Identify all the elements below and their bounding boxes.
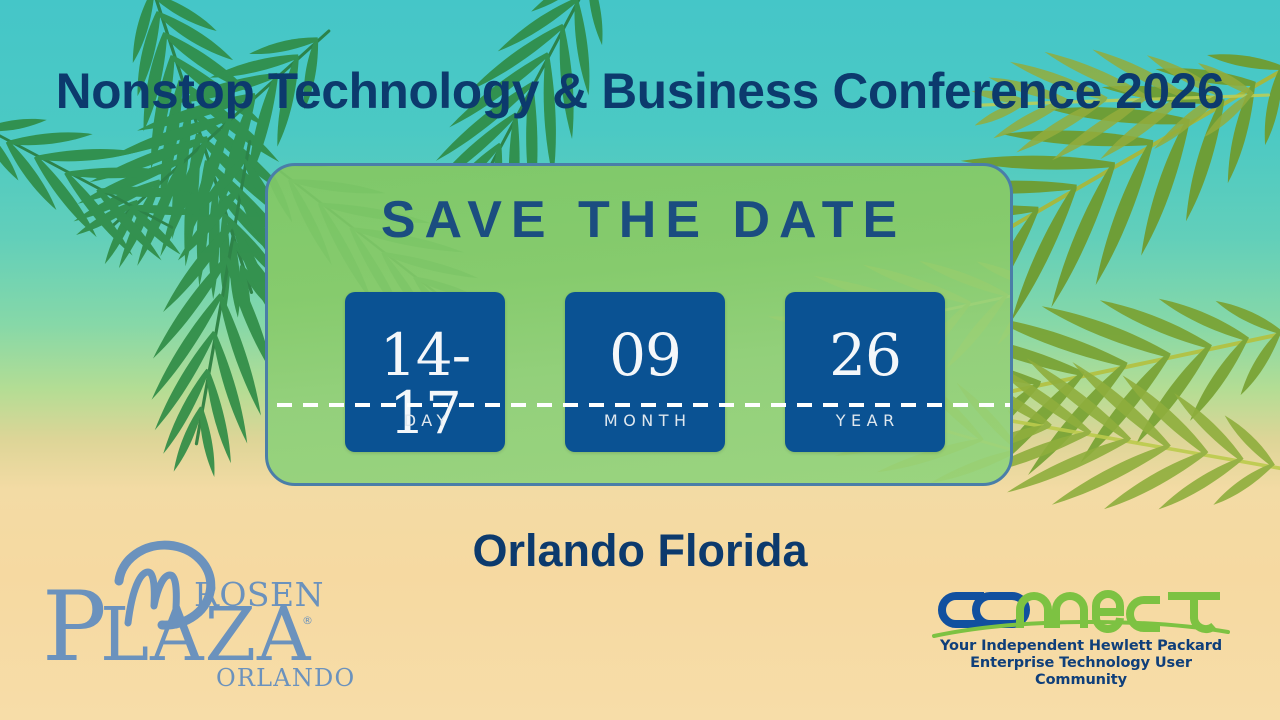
date-value-year: 26 [785, 326, 945, 384]
date-label-year: YEAR [785, 411, 945, 430]
date-value-month: 09 [565, 326, 725, 384]
date-box-day: 14-17 DAY [345, 292, 505, 452]
save-the-date-heading: SAVE THE DATE [268, 190, 1010, 250]
date-boxes: 14-17 DAY 09 MONTH 26 YEAR [345, 292, 945, 452]
date-label-month: MONTH [565, 411, 725, 430]
connect-tagline: Your Independent Hewlett Packard Enterpr… [928, 638, 1234, 689]
connect-logo: Your Independent Hewlett Packard Enterpr… [928, 582, 1234, 682]
save-the-date-poster: Nonstop Technology & Business Conference… [0, 0, 1280, 720]
date-label-day: DAY [345, 411, 505, 430]
rosen-plaza-logo-svg: ROSEN P LAZA ® ORLANDO [36, 528, 366, 693]
connect-logo-svg [928, 582, 1234, 638]
rosen-plaza-logo: ROSEN P LAZA ® ORLANDO [36, 528, 366, 693]
orlando-wordmark: ORLANDO [216, 664, 355, 692]
date-box-year: 26 YEAR [785, 292, 945, 452]
dashed-divider [277, 403, 1010, 407]
page-title: Nonstop Technology & Business Conference… [6, 62, 1273, 120]
plaza-initial: P [42, 571, 107, 683]
registered-mark: ® [302, 614, 313, 627]
date-box-month: 09 MONTH [565, 292, 725, 452]
